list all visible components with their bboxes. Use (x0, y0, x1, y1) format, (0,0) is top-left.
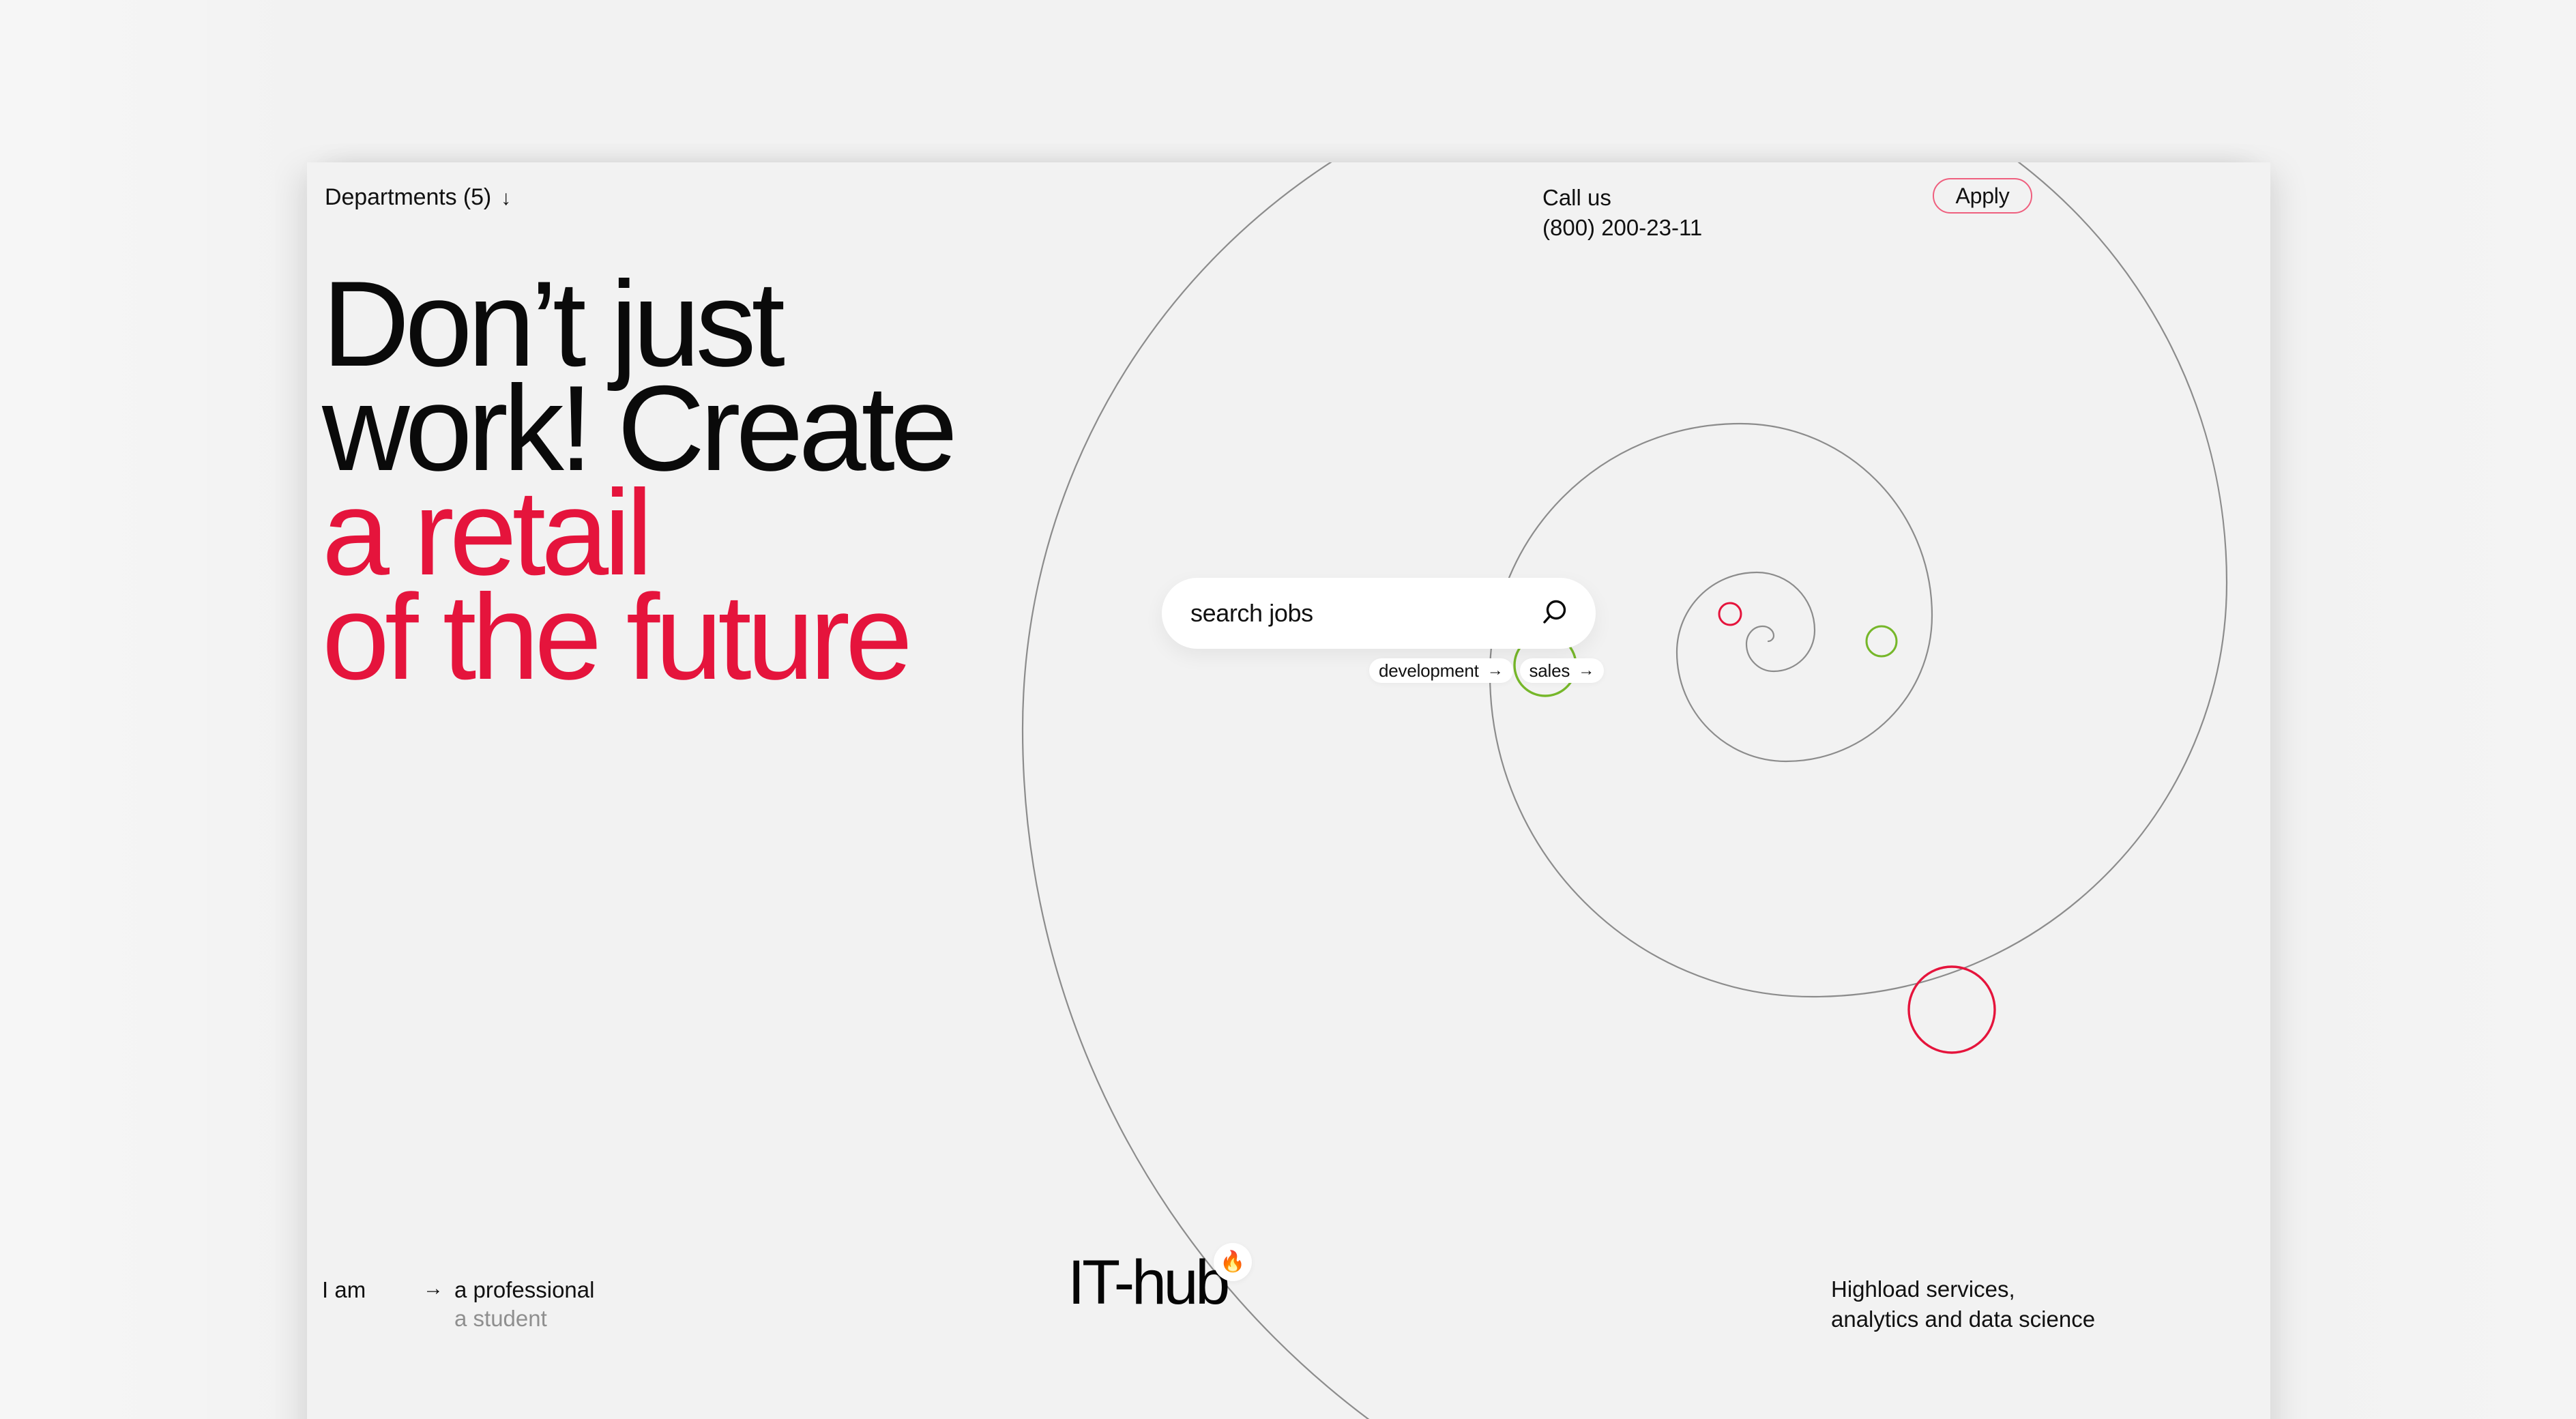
i-am-option-professional[interactable]: a professional (454, 1276, 594, 1304)
headline-line-4: of the future (322, 569, 908, 705)
search-widget: development → sales → (1162, 578, 1596, 649)
i-am-option-student[interactable]: a student (454, 1304, 594, 1333)
call-us-block[interactable]: Call us (800) 200-23-11 (1542, 183, 1702, 243)
search-input[interactable] (1162, 578, 1518, 649)
call-us-label: Call us (1542, 185, 1611, 210)
logo-text: IT-hub (1068, 1251, 1227, 1314)
small-green-node (1867, 626, 1897, 656)
top-bar: Departments (5) ↓ Call us (800) 200-23-1… (307, 162, 2270, 265)
i-am-options: a professional a student (454, 1276, 594, 1333)
search-box[interactable] (1162, 578, 1596, 649)
i-am-label: I am (322, 1276, 423, 1333)
phone-number[interactable]: (800) 200-23-11 (1542, 213, 1702, 243)
tagline: Highload services, analytics and data sc… (1831, 1274, 2095, 1334)
apply-button[interactable]: Apply (1933, 178, 2032, 214)
page-title: Don’t just work! Create a retail of the … (322, 272, 953, 689)
logo[interactable]: IT-hub 🔥 (1068, 1251, 1252, 1314)
tag-sales[interactable]: sales → (1520, 658, 1605, 683)
small-red-node (1719, 603, 1741, 625)
tagline-line-2: analytics and data science (1831, 1304, 2095, 1334)
arrow-down-icon: ↓ (501, 188, 511, 209)
search-suggestion-tags: development → sales → (1369, 658, 1604, 683)
departments-menu[interactable]: Departments (5) ↓ (325, 184, 511, 211)
tagline-line-1: Highload services, (1831, 1274, 2095, 1304)
tag-development[interactable]: development → (1369, 658, 1513, 683)
search-icon[interactable] (1538, 598, 1570, 629)
large-red-node (1909, 967, 1995, 1053)
screen: Departments (5) ↓ Call us (800) 200-23-1… (0, 0, 2576, 1419)
arrow-right-icon: → (423, 1276, 454, 1333)
fire-icon: 🔥 (1214, 1243, 1252, 1281)
arrow-right-icon: → (1487, 661, 1504, 680)
site-card: Departments (5) ↓ Call us (800) 200-23-1… (307, 162, 2270, 1419)
tag-label: development (1379, 660, 1479, 682)
tag-label: sales (1529, 660, 1570, 682)
i-am-selector: I am → a professional a student (322, 1276, 594, 1333)
spiral-path (1023, 162, 2227, 1419)
departments-label: Departments (5) (325, 184, 491, 211)
arrow-right-icon: → (1578, 661, 1594, 680)
